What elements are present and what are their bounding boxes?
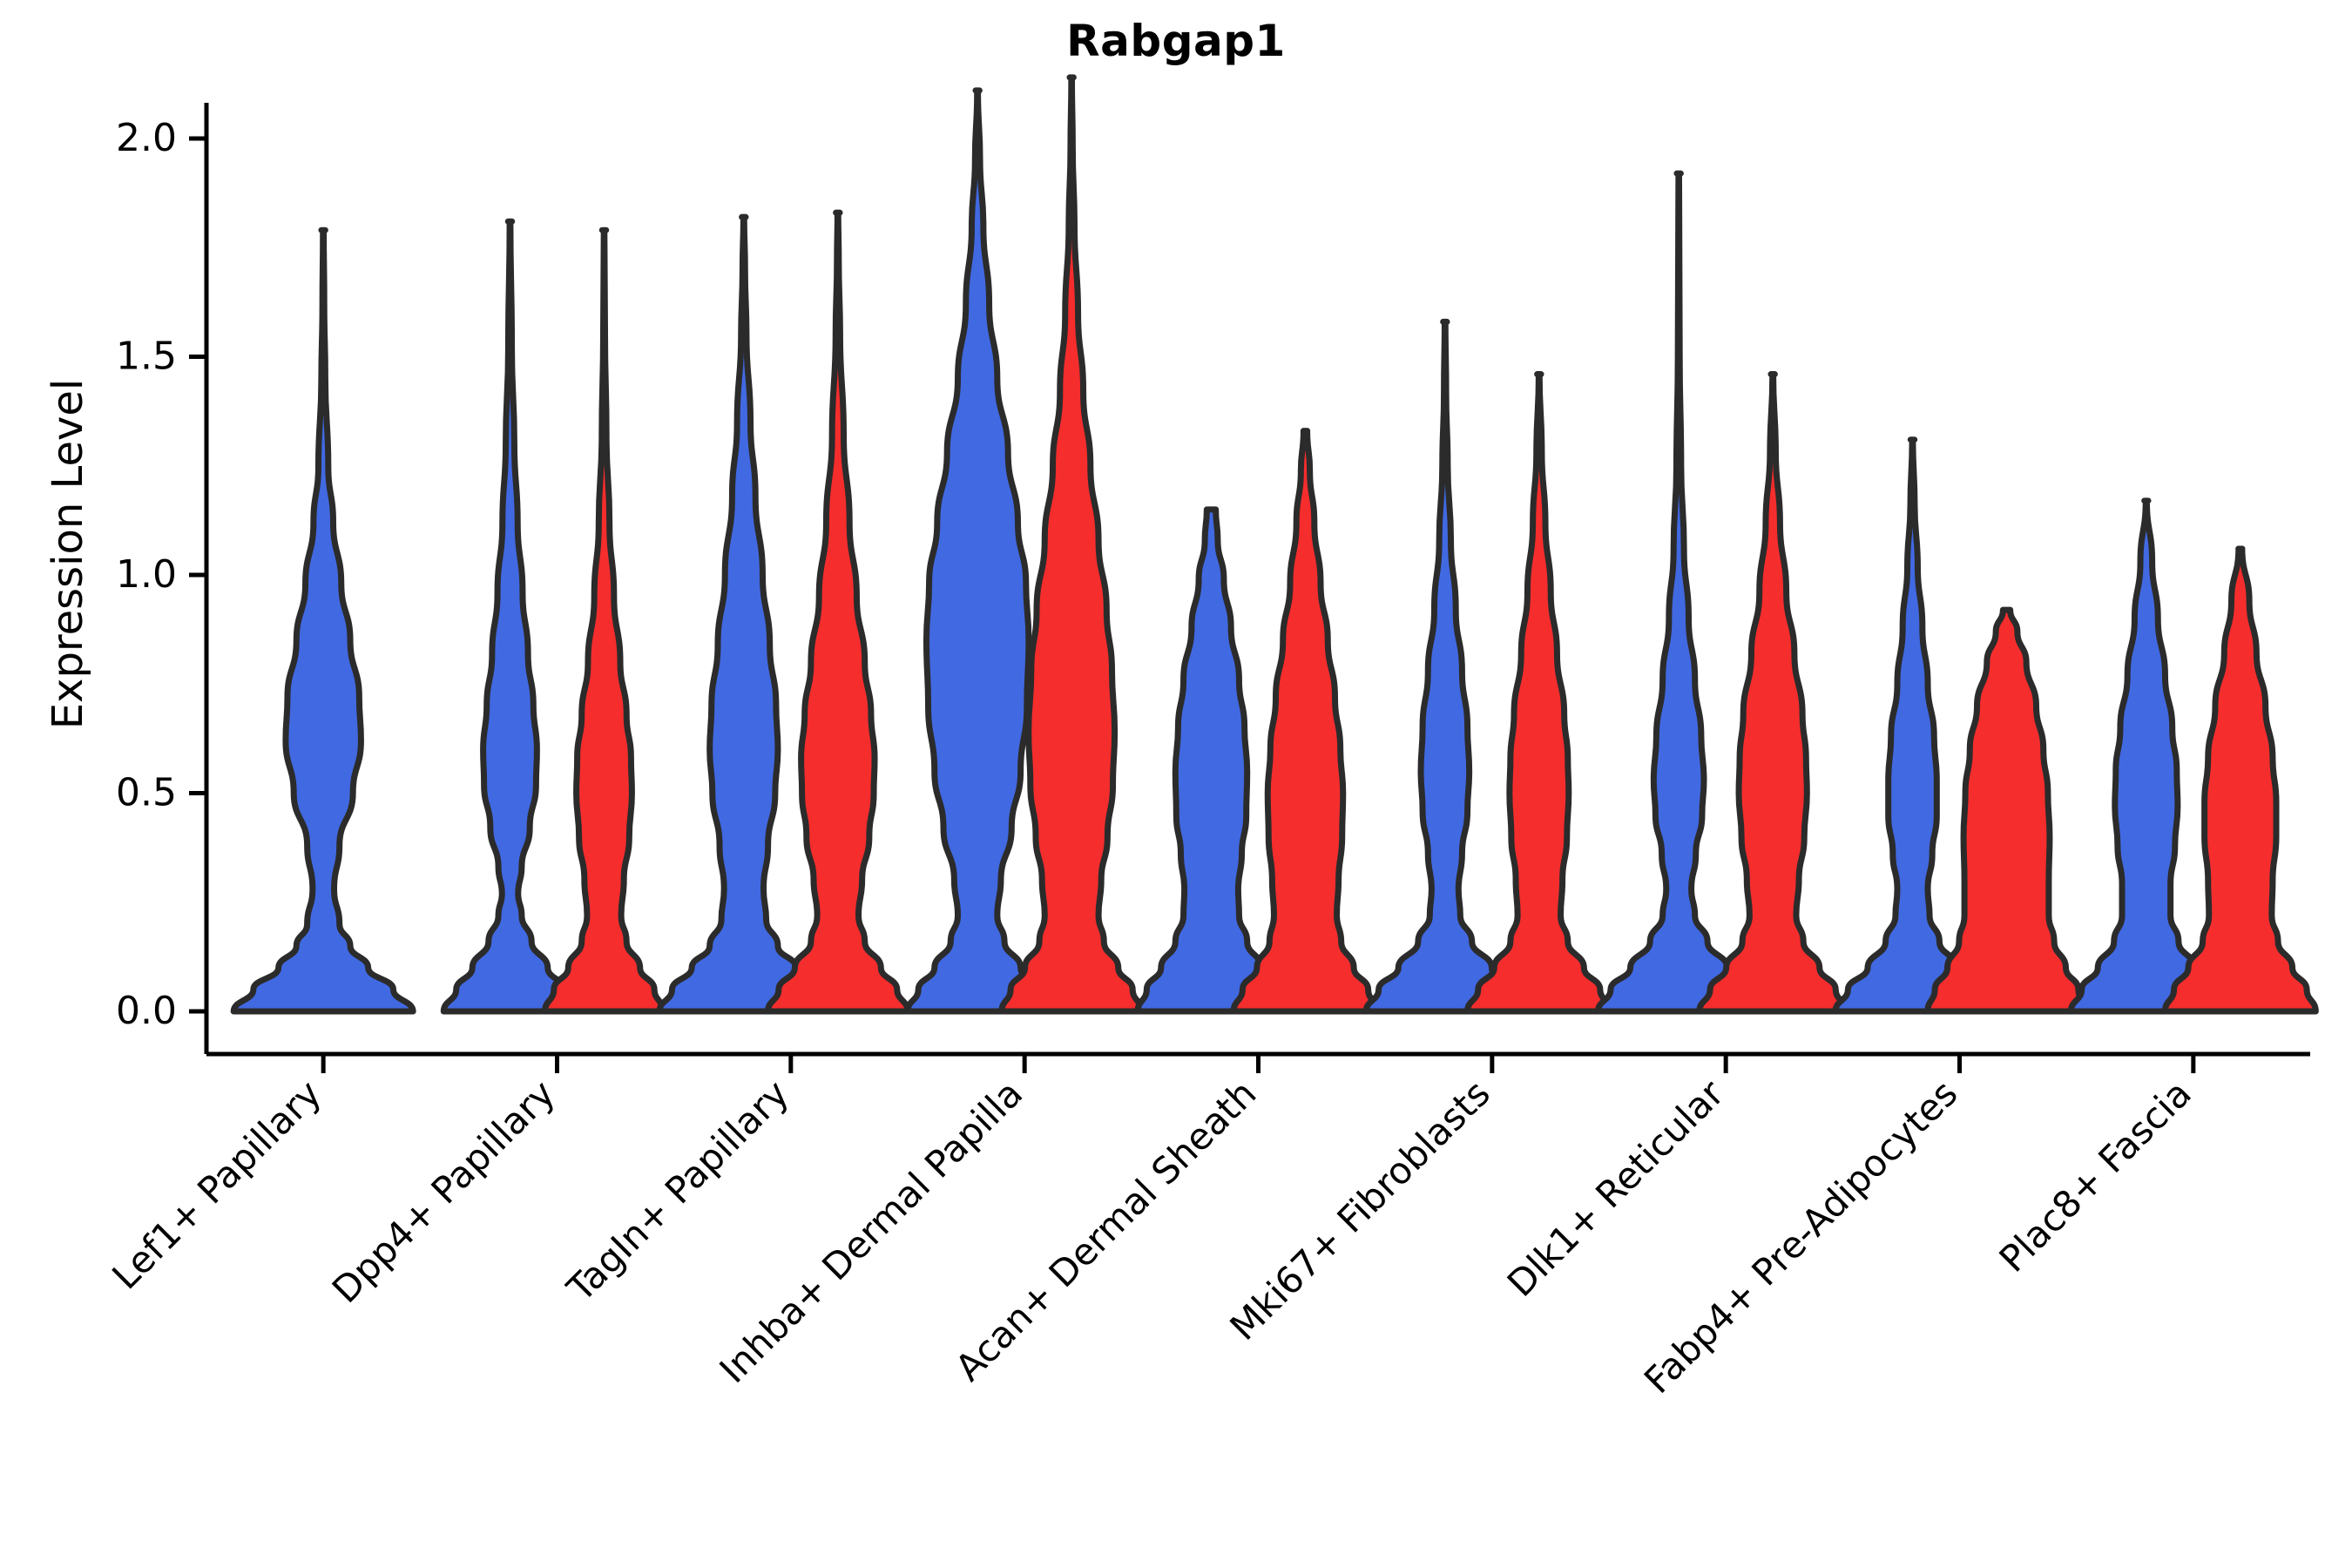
violin-blue xyxy=(233,230,413,1011)
y-tick-labels: 0.00.51.01.52.0 xyxy=(116,116,177,1033)
violin-blue xyxy=(659,217,828,1011)
violin-plot-figure: Rabgap1 Expression Level 0.00.51.01.52.0… xyxy=(0,0,2352,1568)
y-tick-label: 2.0 xyxy=(116,116,177,160)
y-tick-label: 1.0 xyxy=(116,552,177,597)
violin-red xyxy=(767,213,908,1011)
violin-blue xyxy=(908,91,1048,1011)
x-tick-labels: Lef1+ PapillaryDpp4+ PapillaryTagIn+ Pap… xyxy=(104,1071,2200,1402)
y-tick-label: 0.5 xyxy=(116,771,177,815)
x-tick-label: TagIn+ Papillary xyxy=(558,1071,797,1310)
plot-canvas: 0.00.51.01.52.0 Lef1+ PapillaryDpp4+ Pap… xyxy=(0,0,2352,1568)
x-tick-label: Dlk1+ Reticular xyxy=(1499,1071,1733,1305)
x-tick-label: Plac8+ Fascia xyxy=(1991,1071,2200,1280)
violin-blue xyxy=(2071,501,2221,1011)
violin-blue xyxy=(1138,510,1285,1011)
x-tick-label: Lef1+ Papillary xyxy=(104,1071,329,1297)
violin-red xyxy=(1467,375,1611,1011)
violin-red xyxy=(1928,610,2085,1011)
violin-red xyxy=(2165,549,2315,1011)
y-tick-label: 0.0 xyxy=(116,989,177,1033)
x-tick-label: Mki67+ Fibroblasts xyxy=(1221,1071,1497,1348)
violin-red xyxy=(545,230,664,1011)
violin-red xyxy=(1700,375,1847,1011)
violin-blue xyxy=(1598,173,1759,1011)
violins-layer xyxy=(233,78,2315,1011)
x-tick-label: Dpp4+ Papillary xyxy=(324,1071,564,1311)
violin-red xyxy=(1233,431,1377,1011)
violin-blue xyxy=(1366,321,1524,1011)
y-tick-label: 1.5 xyxy=(116,335,177,379)
violin-blue xyxy=(443,221,576,1011)
